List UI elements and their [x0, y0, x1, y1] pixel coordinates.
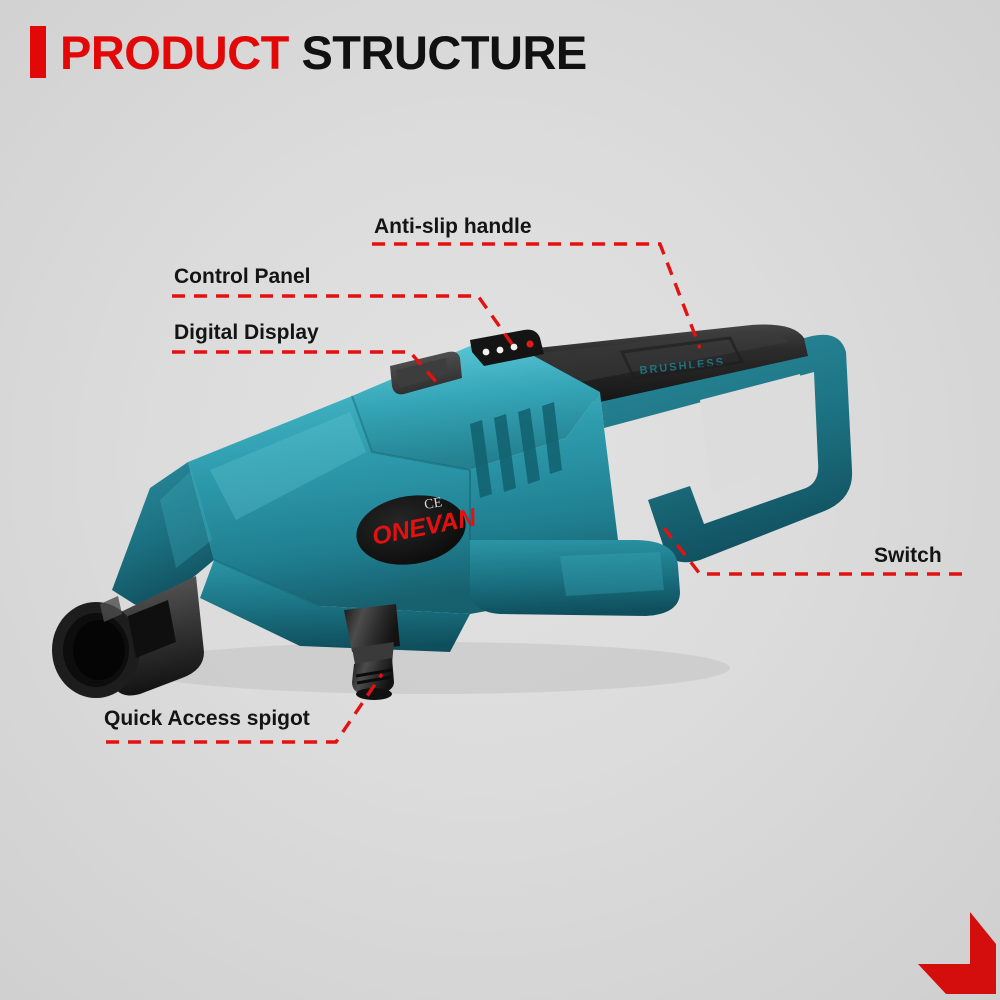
red-corner-arrow-icon	[890, 900, 1000, 1000]
callout-label-digital-display: Digital Display	[174, 322, 319, 343]
led-indicator	[497, 347, 504, 354]
product-image-cordless-blower: BRUSHLESS	[0, 0, 1000, 1000]
callout-label-control-panel: Control Panel	[174, 266, 311, 287]
led-indicator-active	[526, 340, 533, 347]
callout-label-quick-access-spigot: Quick Access spigot	[104, 708, 310, 729]
led-indicator	[483, 349, 490, 356]
led-indicator	[511, 344, 518, 351]
ce-mark: CE	[423, 495, 443, 513]
infographic-canvas: PRODUCT STRUCTURE	[0, 0, 1000, 1000]
callout-label-switch: Switch	[874, 545, 942, 566]
callout-label-anti-slip-handle: Anti-slip handle	[374, 216, 532, 237]
